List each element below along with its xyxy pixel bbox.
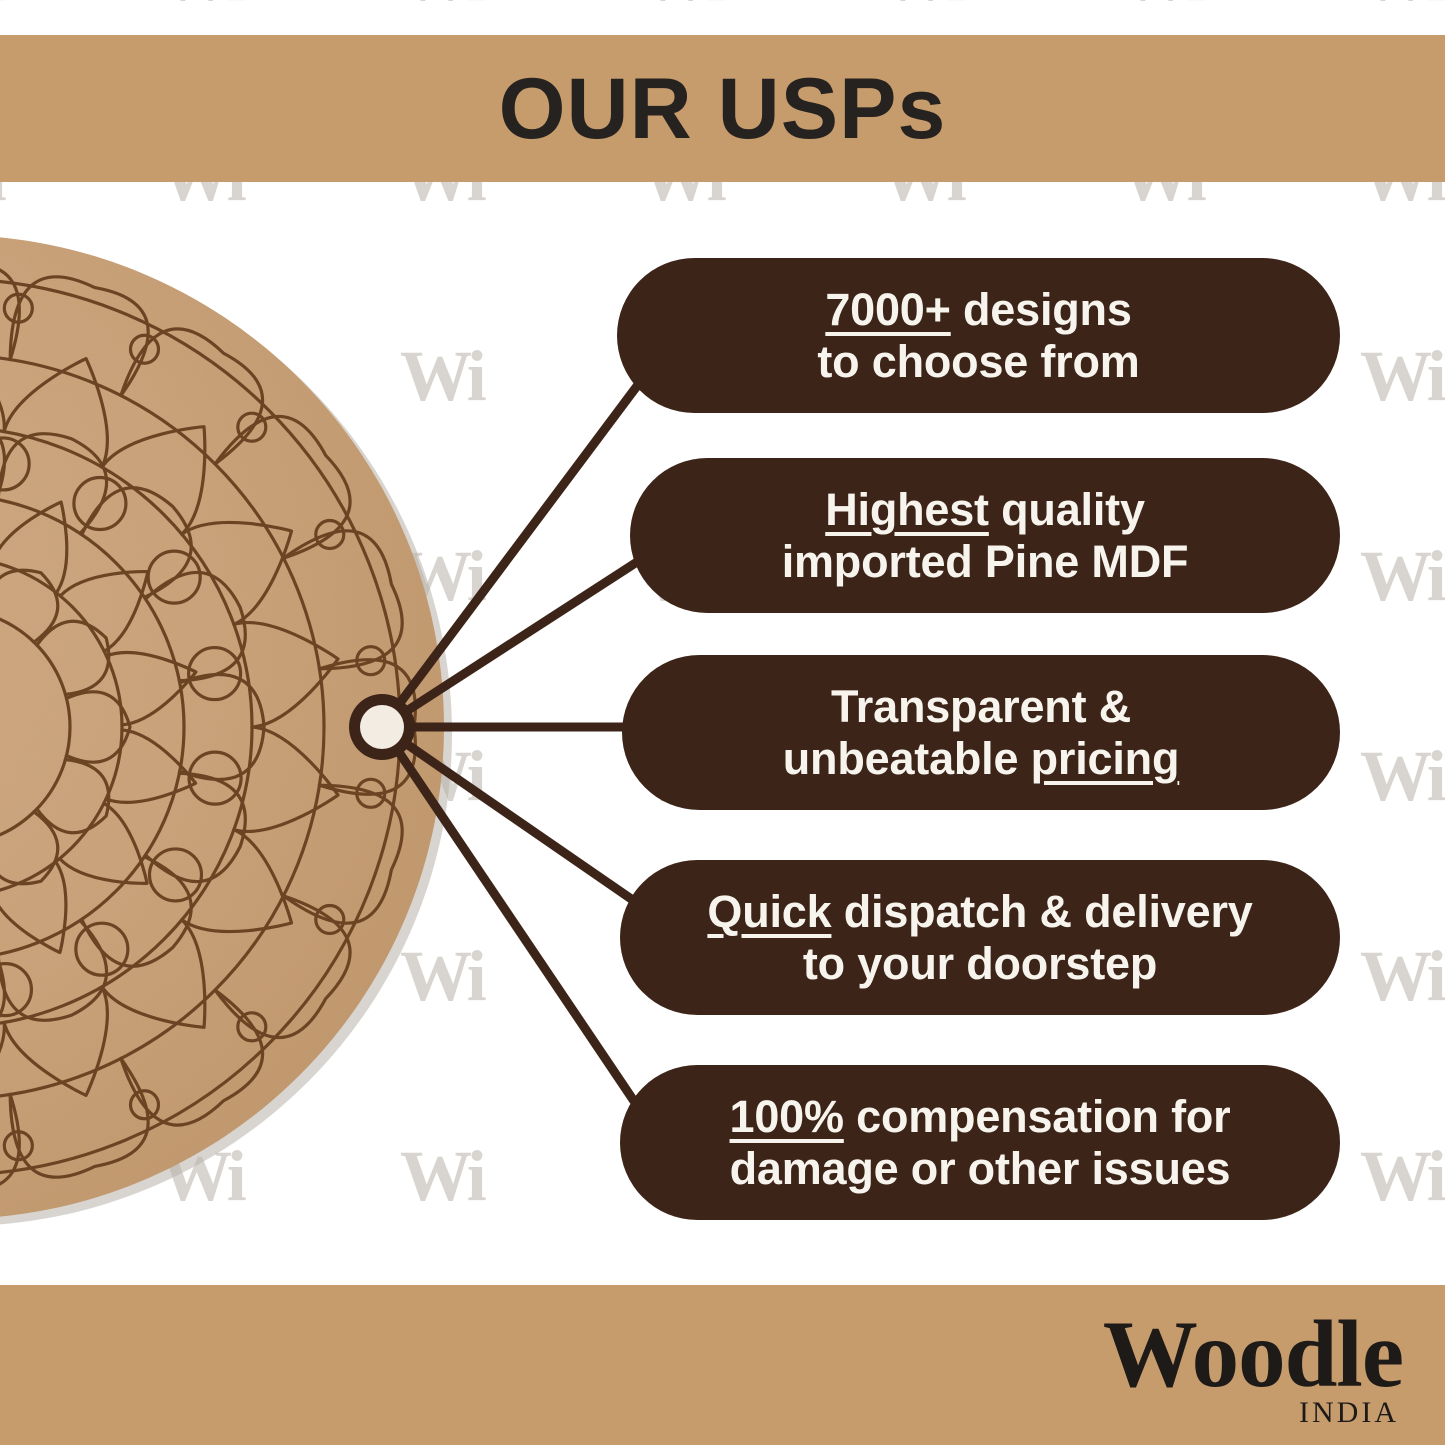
usp-plain-text: to choose from [817,336,1139,387]
watermark-wi: Wi [1120,0,1203,12]
usp-text-line-2: damage or other issues [730,1143,1231,1194]
usp-pill-quality[interactable]: Highest qualityimported Pine MDF [630,458,1340,613]
page-title: OUR USPs [499,66,947,152]
usp-text-line-1: Transparent & [831,681,1131,732]
watermark-wi: Wi [160,0,243,12]
usp-text-line-1: Highest quality [825,484,1145,535]
usp-plain-text: compensation for [844,1091,1231,1142]
usp-text-line-1: Quick dispatch & delivery [707,886,1252,937]
watermark-wi: Wi [400,0,483,12]
usp-pill-dispatch[interactable]: Quick dispatch & deliveryto your doorste… [620,860,1340,1015]
footer-band: Woodle INDIA [0,1285,1445,1445]
watermark-wi: Wi [640,0,723,12]
usp-plain-text: designs [951,284,1132,335]
usp-pill-pricing[interactable]: Transparent &unbeatable pricing [622,655,1340,810]
usp-plain-text: quality [989,484,1145,535]
watermark-wi: Wi [0,0,3,12]
header-band: OUR USPs [0,35,1445,182]
watermark-wi: Wi [1360,1140,1443,1212]
usp-text-line-1: 7000+ designs [825,284,1131,335]
infographic-canvas: WiWiWiWiWiWiWiWiWiWiWiWiWiWiWiWiWiWiWiWi… [0,0,1445,1445]
usp-text-line-2: unbeatable pricing [783,733,1179,784]
usp-plain-text: imported Pine MDF [782,536,1189,587]
watermark-wi: Wi [1360,340,1443,412]
brand-name: Woodle [1103,1307,1403,1402]
usp-highlight-text: pricing [1031,733,1180,784]
usp-text-line-2: to choose from [817,336,1139,387]
usp-highlight-text: Quick [707,886,831,937]
watermark-wi: Wi [1360,540,1443,612]
usp-highlight-text: 7000+ [825,284,950,335]
usp-text-line-2: imported Pine MDF [782,536,1189,587]
usp-pill-designs[interactable]: 7000+ designsto choose from [617,258,1340,413]
usp-plain-text: damage or other issues [730,1143,1231,1194]
watermark-wi: Wi [1360,740,1443,812]
usp-pill-compensation[interactable]: 100% compensation fordamage or other iss… [620,1065,1340,1220]
usp-text-line-2: to your doorstep [803,938,1157,989]
hub-center [360,705,404,749]
usp-plain-text: Transparent & [831,681,1131,732]
brand-logo: Woodle INDIA [1103,1307,1403,1428]
usp-plain-text: dispatch & delivery [831,886,1252,937]
usp-highlight-text: Highest [825,484,989,535]
watermark-wi: Wi [1360,0,1443,12]
usp-plain-text: to your doorstep [803,938,1157,989]
hub-node [337,682,427,772]
usp-highlight-text: 100% [730,1091,844,1142]
usp-plain-text: unbeatable [783,733,1031,784]
usp-text-line-1: 100% compensation for [730,1091,1231,1142]
watermark-wi: Wi [880,0,963,12]
watermark-wi: Wi [1360,940,1443,1012]
